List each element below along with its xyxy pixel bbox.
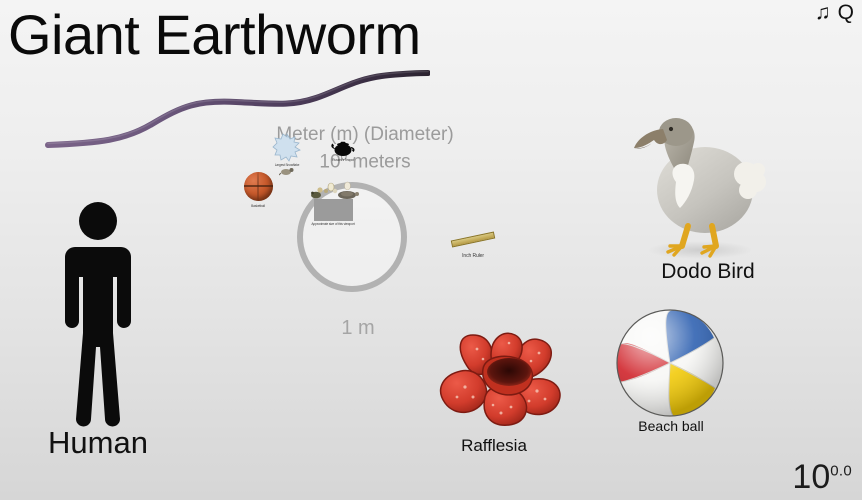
scale-unit-name: Meter (m) (Diameter) <box>276 122 453 148</box>
scale-base: 10 <box>792 458 830 496</box>
snowflake-icon[interactable] <box>272 132 302 162</box>
basketball-label: Basketball <box>251 204 265 208</box>
dodo-bird-illustration[interactable] <box>620 112 785 262</box>
russells-teapot-icon[interactable] <box>330 139 356 157</box>
basketball-icon[interactable] <box>244 172 273 201</box>
rafflesia-label: Rafflesia <box>461 436 527 456</box>
scale-exponent-readout: 100.0 <box>792 460 852 494</box>
viewport-size-label: Approximate size of this viewport <box>310 222 356 226</box>
human-silhouette[interactable] <box>58 200 138 428</box>
scale-of-universe-viewport: Giant Earthworm ♫ Q 100.0 Human Meter (m… <box>0 0 862 500</box>
top-right-icon-bar: ♫ Q <box>815 2 854 23</box>
music-note-icon[interactable]: ♫ <box>815 2 831 23</box>
scale-unit-power: 100 meters <box>276 148 453 175</box>
dodo-bird-label: Dodo Bird <box>661 260 754 284</box>
scale-unit-title: Meter (m) (Diameter) 100 meters <box>276 122 453 175</box>
scale-reference-circle-label: 1 m <box>341 317 374 340</box>
small-turtle-icon <box>337 189 359 200</box>
inch-ruler-label: Inch Ruler <box>462 253 484 259</box>
scale-exponent: 0.0 <box>830 463 852 480</box>
small-frog-icon <box>310 190 322 199</box>
beach-ball-illustration[interactable] <box>613 308 728 420</box>
small-bird-icon <box>279 166 295 176</box>
current-scale-group: Meter (m) (Diameter) 100 meters 1 m Bask… <box>230 122 500 352</box>
viewport-size-box <box>314 199 353 221</box>
page-title: Giant Earthworm <box>8 6 421 65</box>
question-icon[interactable]: Q <box>838 2 854 23</box>
beach-ball-label: Beach ball <box>638 418 703 434</box>
inch-ruler-icon[interactable] <box>451 232 495 248</box>
small-egg-icon <box>343 181 352 190</box>
rafflesia-illustration[interactable] <box>425 327 580 432</box>
russells-teapot-label: Russell's Teapot <box>332 158 353 162</box>
human-label: Human <box>48 425 148 461</box>
